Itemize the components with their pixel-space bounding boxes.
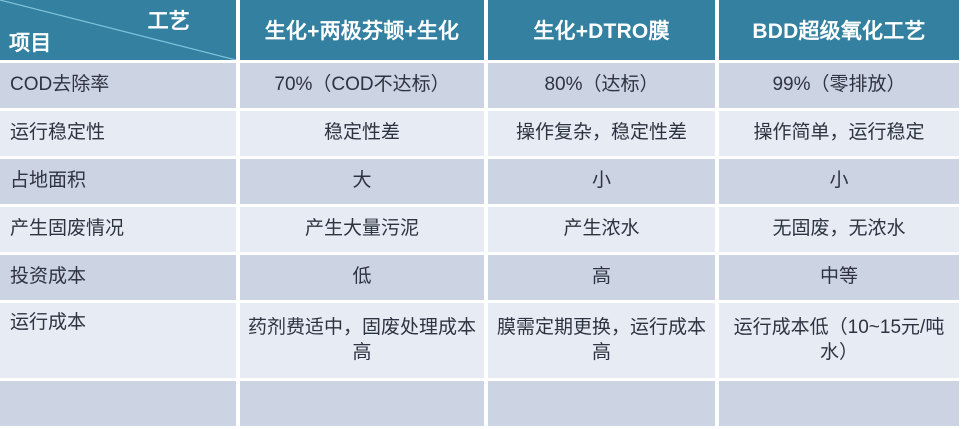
table-row: 投资成本 低 高 中等 — [0, 255, 959, 300]
cell-value: 操作简单，运行稳定 — [719, 111, 959, 156]
row-label: 运行稳定性 — [0, 111, 236, 156]
cell-value: 80%（达标） — [488, 63, 715, 108]
corner-row-axis-label: 项目 — [9, 27, 51, 57]
corner-header-cell: 工艺 项目 — [0, 0, 236, 60]
cell-value: 高 — [488, 255, 715, 300]
cell-value: 操作复杂，稳定性差 — [488, 111, 715, 156]
row-label: 占地面积 — [0, 159, 236, 204]
table-header: 工艺 项目 生化+两极芬顿+生化 生化+DTRO膜 BDD超级氧化工艺 — [0, 0, 959, 60]
row-label: COD去除率 — [0, 63, 236, 108]
header-row: 工艺 项目 生化+两极芬顿+生化 生化+DTRO膜 BDD超级氧化工艺 — [0, 0, 959, 60]
cell-value: 无固废，无浓水 — [719, 207, 959, 252]
cell-value: 药剂费适中，固废处理成本高 — [240, 303, 484, 378]
table-row: 产生固废情况 产生大量污泥 产生浓水 无固废，无浓水 — [0, 207, 959, 252]
cell-value — [488, 381, 715, 426]
cell-value: 99%（零排放） — [719, 63, 959, 108]
cell-value: 大 — [240, 159, 484, 204]
cell-value: 小 — [488, 159, 715, 204]
row-label: 投资成本 — [0, 255, 236, 300]
corner-column-axis-label: 工艺 — [148, 5, 190, 35]
comparison-table-container: 工艺 项目 生化+两极芬顿+生化 生化+DTRO膜 BDD超级氧化工艺 COD去… — [0, 0, 967, 412]
cell-value: 小 — [719, 159, 959, 204]
column-header-3: BDD超级氧化工艺 — [719, 0, 959, 60]
table-row: 占地面积 大 小 小 — [0, 159, 959, 204]
row-label — [0, 381, 236, 426]
table-row — [0, 381, 959, 426]
cell-value — [719, 381, 959, 426]
table-row: 运行稳定性 稳定性差 操作复杂，稳定性差 操作简单，运行稳定 — [0, 111, 959, 156]
cell-value — [240, 381, 484, 426]
table-row: 运行成本 药剂费适中，固废处理成本高 膜需定期更换，运行成本高 运行成本低（10… — [0, 303, 959, 378]
cell-value: 低 — [240, 255, 484, 300]
cell-value: 70%（COD不达标） — [240, 63, 484, 108]
table-row: COD去除率 70%（COD不达标） 80%（达标） 99%（零排放） — [0, 63, 959, 108]
cell-value: 产生浓水 — [488, 207, 715, 252]
cell-value: 膜需定期更换，运行成本高 — [488, 303, 715, 378]
row-label: 运行成本 — [0, 303, 236, 378]
table-body: COD去除率 70%（COD不达标） 80%（达标） 99%（零排放） 运行稳定… — [0, 63, 959, 426]
cell-value: 稳定性差 — [240, 111, 484, 156]
process-comparison-table: 工艺 项目 生化+两极芬顿+生化 生化+DTRO膜 BDD超级氧化工艺 COD去… — [0, 0, 963, 429]
cell-value: 产生大量污泥 — [240, 207, 484, 252]
column-header-2: 生化+DTRO膜 — [488, 0, 715, 60]
cell-value: 运行成本低（10~15元/吨水） — [719, 303, 959, 378]
row-label: 产生固废情况 — [0, 207, 236, 252]
column-header-1: 生化+两极芬顿+生化 — [240, 0, 484, 60]
cell-value: 中等 — [719, 255, 959, 300]
